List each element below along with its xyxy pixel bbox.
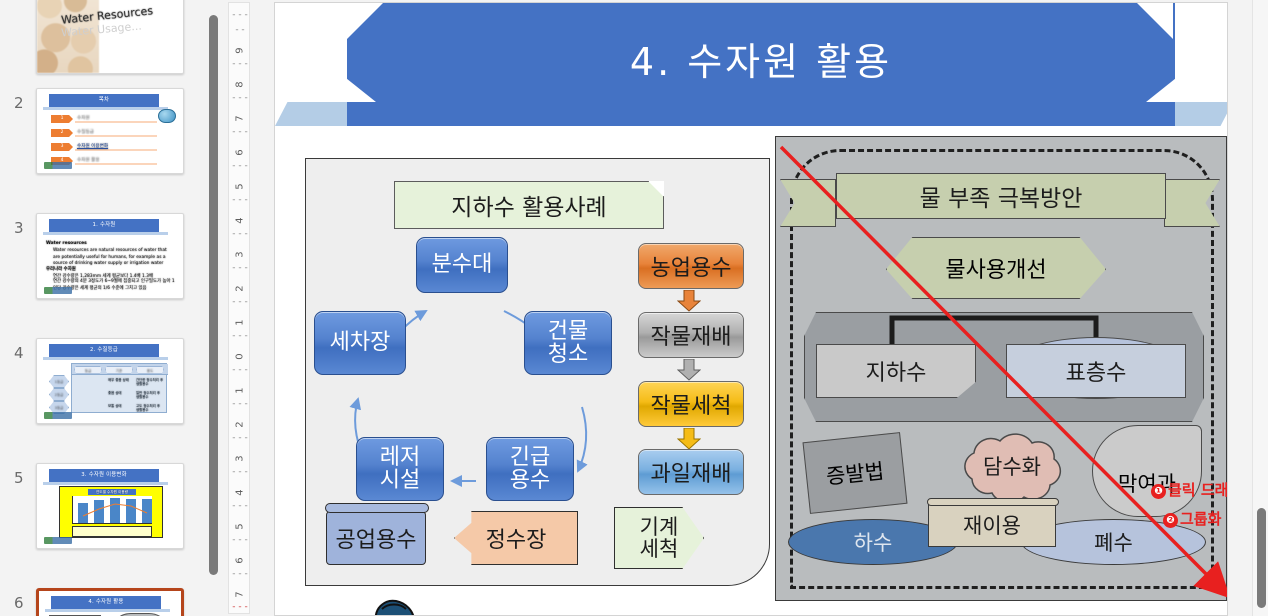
ruler-label: 6: [235, 557, 246, 563]
page-title: 4. 수자원 활용: [347, 23, 1175, 93]
shape-desalination[interactable]: 담수화: [948, 429, 1076, 503]
active-slide[interactable]: 4. 수자원 활용 지하수 활용사례: [274, 2, 1228, 616]
ruler-label: 6: [235, 149, 246, 155]
cycle-node-car-wash[interactable]: 세차장: [314, 311, 406, 375]
ruler-label: 2: [235, 285, 246, 291]
grade-badge: 2등급: [49, 388, 69, 401]
thumbnail-number: 6: [14, 594, 24, 612]
toc-chevron: 1: [51, 115, 73, 123]
shape-label: 폐수: [1094, 527, 1133, 557]
thumbnail-title: 3. 수자원 이용변화: [49, 469, 159, 482]
cycle-node-emergency-water[interactable]: 긴급 용수: [486, 437, 574, 501]
thumbnail-number: 2: [14, 94, 24, 112]
column-header: 기준: [105, 366, 133, 374]
groundwater-usage-diagram[interactable]: 지하수 활용사례: [305, 158, 770, 586]
thumbnail-number: 5: [14, 469, 24, 487]
flow-arrow-down: [677, 359, 701, 381]
ruler-label: 1: [235, 387, 246, 393]
cycle-node-label: 분수대: [432, 253, 493, 276]
annotation-badge: ❶: [1151, 484, 1166, 499]
title-underbar: [43, 482, 168, 485]
shape-water-use-improvement[interactable]: 물사용개선: [886, 237, 1106, 299]
title-underbar: [45, 609, 170, 612]
shape-evaporation-method[interactable]: 증발법: [803, 432, 908, 514]
thumbnail-title: 1. 수자원: [49, 219, 159, 232]
toc-row: 3 수자원 이용변화: [51, 143, 161, 151]
annotation-text: 그룹화: [1180, 510, 1221, 528]
ruler-label: 4: [235, 217, 246, 223]
shape-label: 지하수: [866, 355, 927, 387]
table-cell: 좋음 상태: [108, 391, 132, 395]
thumbnail-title: 4. 수자원 활용: [51, 596, 161, 609]
ruler-label: 5: [235, 183, 246, 189]
shape-label: 기계 세척: [640, 516, 679, 560]
chart-title: 연도별 수자원 이용량: [88, 489, 136, 495]
vertical-ruler: 9 8 7 6 5 4 3 2 1 0 1 2 3 4 5 6 7 - - - …: [228, 2, 250, 614]
title-underbar: [43, 232, 168, 235]
cycle-node-label: 레저 시설: [380, 446, 420, 492]
toc-chevron: 2: [51, 129, 73, 137]
table-cell: 매우 좋음 상태: [108, 378, 132, 382]
thumbnail-preview[interactable]: 3. 수자원 이용변화 연도별 수자원 이용량: [36, 463, 184, 549]
ruler-label: 0: [235, 353, 246, 359]
shape-industrial-water[interactable]: 공업용수: [326, 511, 426, 565]
cycle-node-leisure-facility[interactable]: 레저 시설: [356, 437, 444, 501]
shape-surface-water[interactable]: 표층수: [1006, 344, 1186, 398]
ruler-label: 7: [235, 115, 246, 121]
scroll-bar-top: [927, 498, 1059, 506]
flow-node-crop-washing[interactable]: 작물세척: [638, 381, 744, 427]
cycle-node-building-cleaning[interactable]: 건물 청소: [524, 311, 612, 375]
annotation-step-1: ❶클릭 드래그: [1151, 479, 1228, 500]
ruler-label: 2: [235, 421, 246, 427]
thumbnail-preview[interactable]: 1. 수자원 Water resources Water resources a…: [36, 213, 184, 299]
cycle-node-fountain[interactable]: 분수대: [416, 237, 508, 293]
column-header: 등급: [74, 366, 102, 374]
thumbnail-title: 목차: [49, 94, 159, 107]
grade-table: 등급 기준 용도 매우 좋음 상태 간단한 정수처리 후 생활용수 좋음 상태 …: [71, 363, 167, 413]
footer-logo: [44, 162, 72, 169]
shape-reuse[interactable]: 재이용: [928, 503, 1056, 547]
cycle-node-label: 건물 청소: [548, 320, 588, 366]
flow-arrow-down: [677, 290, 701, 312]
toc-row: 1 수자원: [51, 115, 161, 123]
thumbnail-number: 3: [14, 219, 24, 237]
flow-arrow-down: [677, 428, 701, 450]
toc-row: 2 수질등급: [51, 129, 161, 137]
ruler-label: 8: [235, 81, 246, 87]
flow-node-label: 작물세척: [651, 388, 732, 420]
toc-label: 수자원 이용변화: [77, 143, 108, 149]
table-cell: 간단한 정수처리 후 생활용수: [136, 378, 164, 387]
ribbon-title[interactable]: 물 부족 극복방안: [836, 173, 1166, 219]
bullet-text: Water resources: [46, 241, 87, 246]
toc-label: 수질등급: [77, 129, 94, 135]
toc-label: 수자원: [77, 115, 90, 121]
thumbnail-title: 2. 수질등급: [49, 344, 159, 357]
slide-canvas-area[interactable]: 4. 수자원 활용 지하수 활용사례: [252, 0, 1268, 616]
title-underbar: [43, 357, 168, 360]
shape-groundwater[interactable]: 지하수: [816, 344, 976, 398]
toc-chevron: 3: [51, 143, 73, 151]
ruler-label: 3: [235, 251, 246, 257]
flow-node-label: 농업용수: [651, 250, 732, 282]
ruler-label: 9: [235, 47, 246, 53]
shape-label: 증발법: [825, 455, 886, 491]
footer-logo: [44, 412, 72, 419]
thumbnail-preview[interactable]: 2. 수질등급 등급 기준 용도 매우 좋음 상태 간단한 정수처리 후 생활용…: [36, 338, 184, 424]
annotation-text: 클릭 드래그: [1168, 481, 1228, 499]
grade-badge: 1등급: [49, 375, 69, 388]
usage-chart: 연도별 수자원 이용량: [59, 486, 163, 538]
bullet-text: 우리나라 수자원: [46, 266, 76, 272]
shape-label: 표층수: [1066, 355, 1127, 387]
slide-thumbnail-pane[interactable]: Water Resources Water Usage... 2 목차 1 수자…: [0, 0, 196, 616]
flow-node-label: 과일재배: [651, 456, 732, 488]
table-cell: 보통 상태: [108, 404, 132, 408]
shape-label: 정수장: [486, 522, 547, 554]
annotation-step-2: ❷그룹화: [1163, 508, 1221, 529]
title-underbar: [43, 107, 168, 110]
chart-plot: [72, 496, 152, 524]
flow-node-agricultural-water[interactable]: 농업용수: [638, 243, 744, 289]
footer-logo: [44, 287, 72, 294]
shape-water-treatment-plant[interactable]: 정수장: [454, 511, 578, 565]
ruler-label: 1: [235, 319, 246, 325]
footer-logo: [44, 537, 72, 544]
thumbnail-preview[interactable]: 목차 1 수자원 2 수질등급 3 수자원 이용변화 4: [36, 88, 184, 174]
chart-data-table: [72, 526, 152, 537]
cycle-node-label: 긴급 용수: [510, 446, 550, 492]
ruler-label: 3: [235, 455, 246, 461]
globe-icon: [158, 109, 176, 123]
shape-label: 하수: [854, 527, 893, 557]
table-cell: 고도 정수처리 후 생활용수: [136, 404, 164, 413]
ribbon-wing-left: [780, 179, 836, 227]
thumbnail-preview[interactable]: Water Resources Water Usage...: [36, 0, 184, 74]
shape-label: 담수화: [983, 451, 1041, 481]
scrollbar-thumb[interactable]: [209, 15, 218, 575]
table-cell: 일반 정수처리 후 생활용수: [136, 391, 164, 400]
shape-label: 공업용수: [336, 522, 417, 554]
main-scrollbar[interactable]: [1252, 0, 1268, 616]
bullet-text: Water resources are natural resources of…: [53, 248, 173, 268]
ruler-label: 4: [235, 489, 246, 495]
column-header: 용도: [136, 366, 164, 374]
shape-label: 재이용: [963, 510, 1021, 540]
cycle-node-label: 세차장: [330, 331, 391, 354]
ruler-label: 7: [235, 591, 246, 597]
presentation-editor-window: Water Resources Water Usage... 2 목차 1 수자…: [0, 0, 1268, 616]
banner-lower: [347, 102, 1175, 126]
shape-label: 물사용개선: [945, 252, 1046, 284]
ruler-label: 5: [235, 523, 246, 529]
scrollbar-thumb[interactable]: [1257, 508, 1266, 608]
flow-node-fruit-cultivation[interactable]: 과일재배: [638, 449, 744, 495]
thumbnail-preview[interactable]: 4. 수자원 활용: [36, 588, 184, 616]
shape-membrane-filtration[interactable]: 막여과: [1092, 425, 1202, 517]
ribbon-label: 물 부족 극복방안: [920, 179, 1083, 213]
thumbnail-number: 4: [14, 344, 24, 362]
company-logo-icon: [370, 595, 422, 616]
water-shortage-diagram[interactable]: 물 부족 극복방안 물사용개선 지하수 표층수: [775, 136, 1227, 601]
thumbnail-pane-scrollbar[interactable]: [205, 0, 221, 616]
annotation-badge: ❷: [1163, 513, 1178, 528]
table-header: 등급 기준 용도: [72, 364, 168, 375]
flow-node-label: 작물재배: [651, 319, 732, 351]
toc-label: 수자원 활용: [77, 157, 100, 163]
flow-node-crop-cultivation[interactable]: 작물재배: [638, 312, 744, 358]
